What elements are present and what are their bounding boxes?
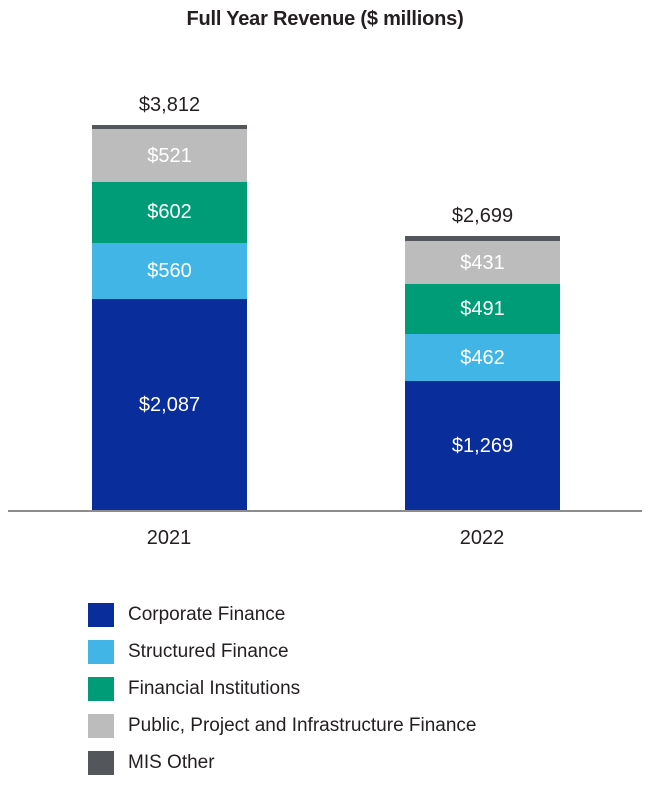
bar-segment-2022-corporate-finance[interactable]: $1,269	[405, 381, 560, 510]
x-axis-tick-label-2022: 2022	[382, 527, 582, 550]
bar-segment-2021-public-project-and-infrastructure-finance[interactable]: $521	[92, 129, 247, 182]
bar-segment-value-label: $431	[460, 253, 505, 273]
x-axis-baseline	[8, 510, 642, 512]
chart-legend: Corporate Finance Structured Finance Fin…	[88, 596, 628, 781]
legend-item-corporate-finance[interactable]: Corporate Finance	[88, 596, 628, 633]
legend-swatch-icon-mis-other	[88, 751, 114, 775]
plot-area: $521$602$560$2,087 $431$491$462$1,269 $3…	[0, 0, 650, 512]
legend-swatch-icon-financial-institutions	[88, 677, 114, 701]
bar-stack-2022[interactable]: $431$491$462$1,269	[405, 236, 560, 510]
bar-total-label-2021: $3,812	[92, 94, 247, 117]
bar-segment-2022-public-project-and-infrastructure-finance[interactable]: $431	[405, 241, 560, 285]
bar-segment-2022-financial-institutions[interactable]: $491	[405, 284, 560, 334]
legend-label-public-project-infrastructure-finance: Public, Project and Infrastructure Finan…	[128, 716, 477, 735]
bar-segment-value-label: $491	[460, 299, 505, 319]
legend-label-mis-other: MIS Other	[128, 753, 215, 772]
bar-segment-2021-structured-finance[interactable]: $560	[92, 243, 247, 300]
bar-segment-2022-structured-finance[interactable]: $462	[405, 334, 560, 381]
legend-item-public-project-infrastructure-finance[interactable]: Public, Project and Infrastructure Finan…	[88, 707, 628, 744]
bar-segment-value-label: $2,087	[139, 395, 200, 415]
legend-swatch-icon-public-project-infrastructure-finance	[88, 714, 114, 738]
legend-item-structured-finance[interactable]: Structured Finance	[88, 633, 628, 670]
bar-total-label-2022: $2,699	[405, 205, 560, 228]
bar-stack-2021[interactable]: $521$602$560$2,087	[92, 125, 247, 510]
bar-segment-value-label: $560	[147, 261, 192, 281]
legend-label-financial-institutions: Financial Institutions	[128, 679, 300, 698]
legend-item-mis-other[interactable]: MIS Other	[88, 744, 628, 781]
bar-segment-value-label: $1,269	[452, 436, 513, 456]
revenue-stacked-bar-chart: Full Year Revenue ($ millions) $521$602$…	[0, 0, 650, 800]
bar-segment-2021-corporate-finance[interactable]: $2,087	[92, 299, 247, 510]
bar-segment-value-label: $462	[460, 348, 505, 368]
bar-segment-value-label: $521	[147, 146, 192, 166]
x-axis-tick-label-2021: 2021	[69, 527, 269, 550]
legend-label-corporate-finance: Corporate Finance	[128, 605, 285, 624]
bar-segment-value-label: $602	[147, 202, 192, 222]
bar-segment-2021-financial-institutions[interactable]: $602	[92, 182, 247, 243]
legend-swatch-icon-structured-finance	[88, 640, 114, 664]
legend-swatch-icon-corporate-finance	[88, 603, 114, 627]
legend-item-financial-institutions[interactable]: Financial Institutions	[88, 670, 628, 707]
legend-label-structured-finance: Structured Finance	[128, 642, 289, 661]
